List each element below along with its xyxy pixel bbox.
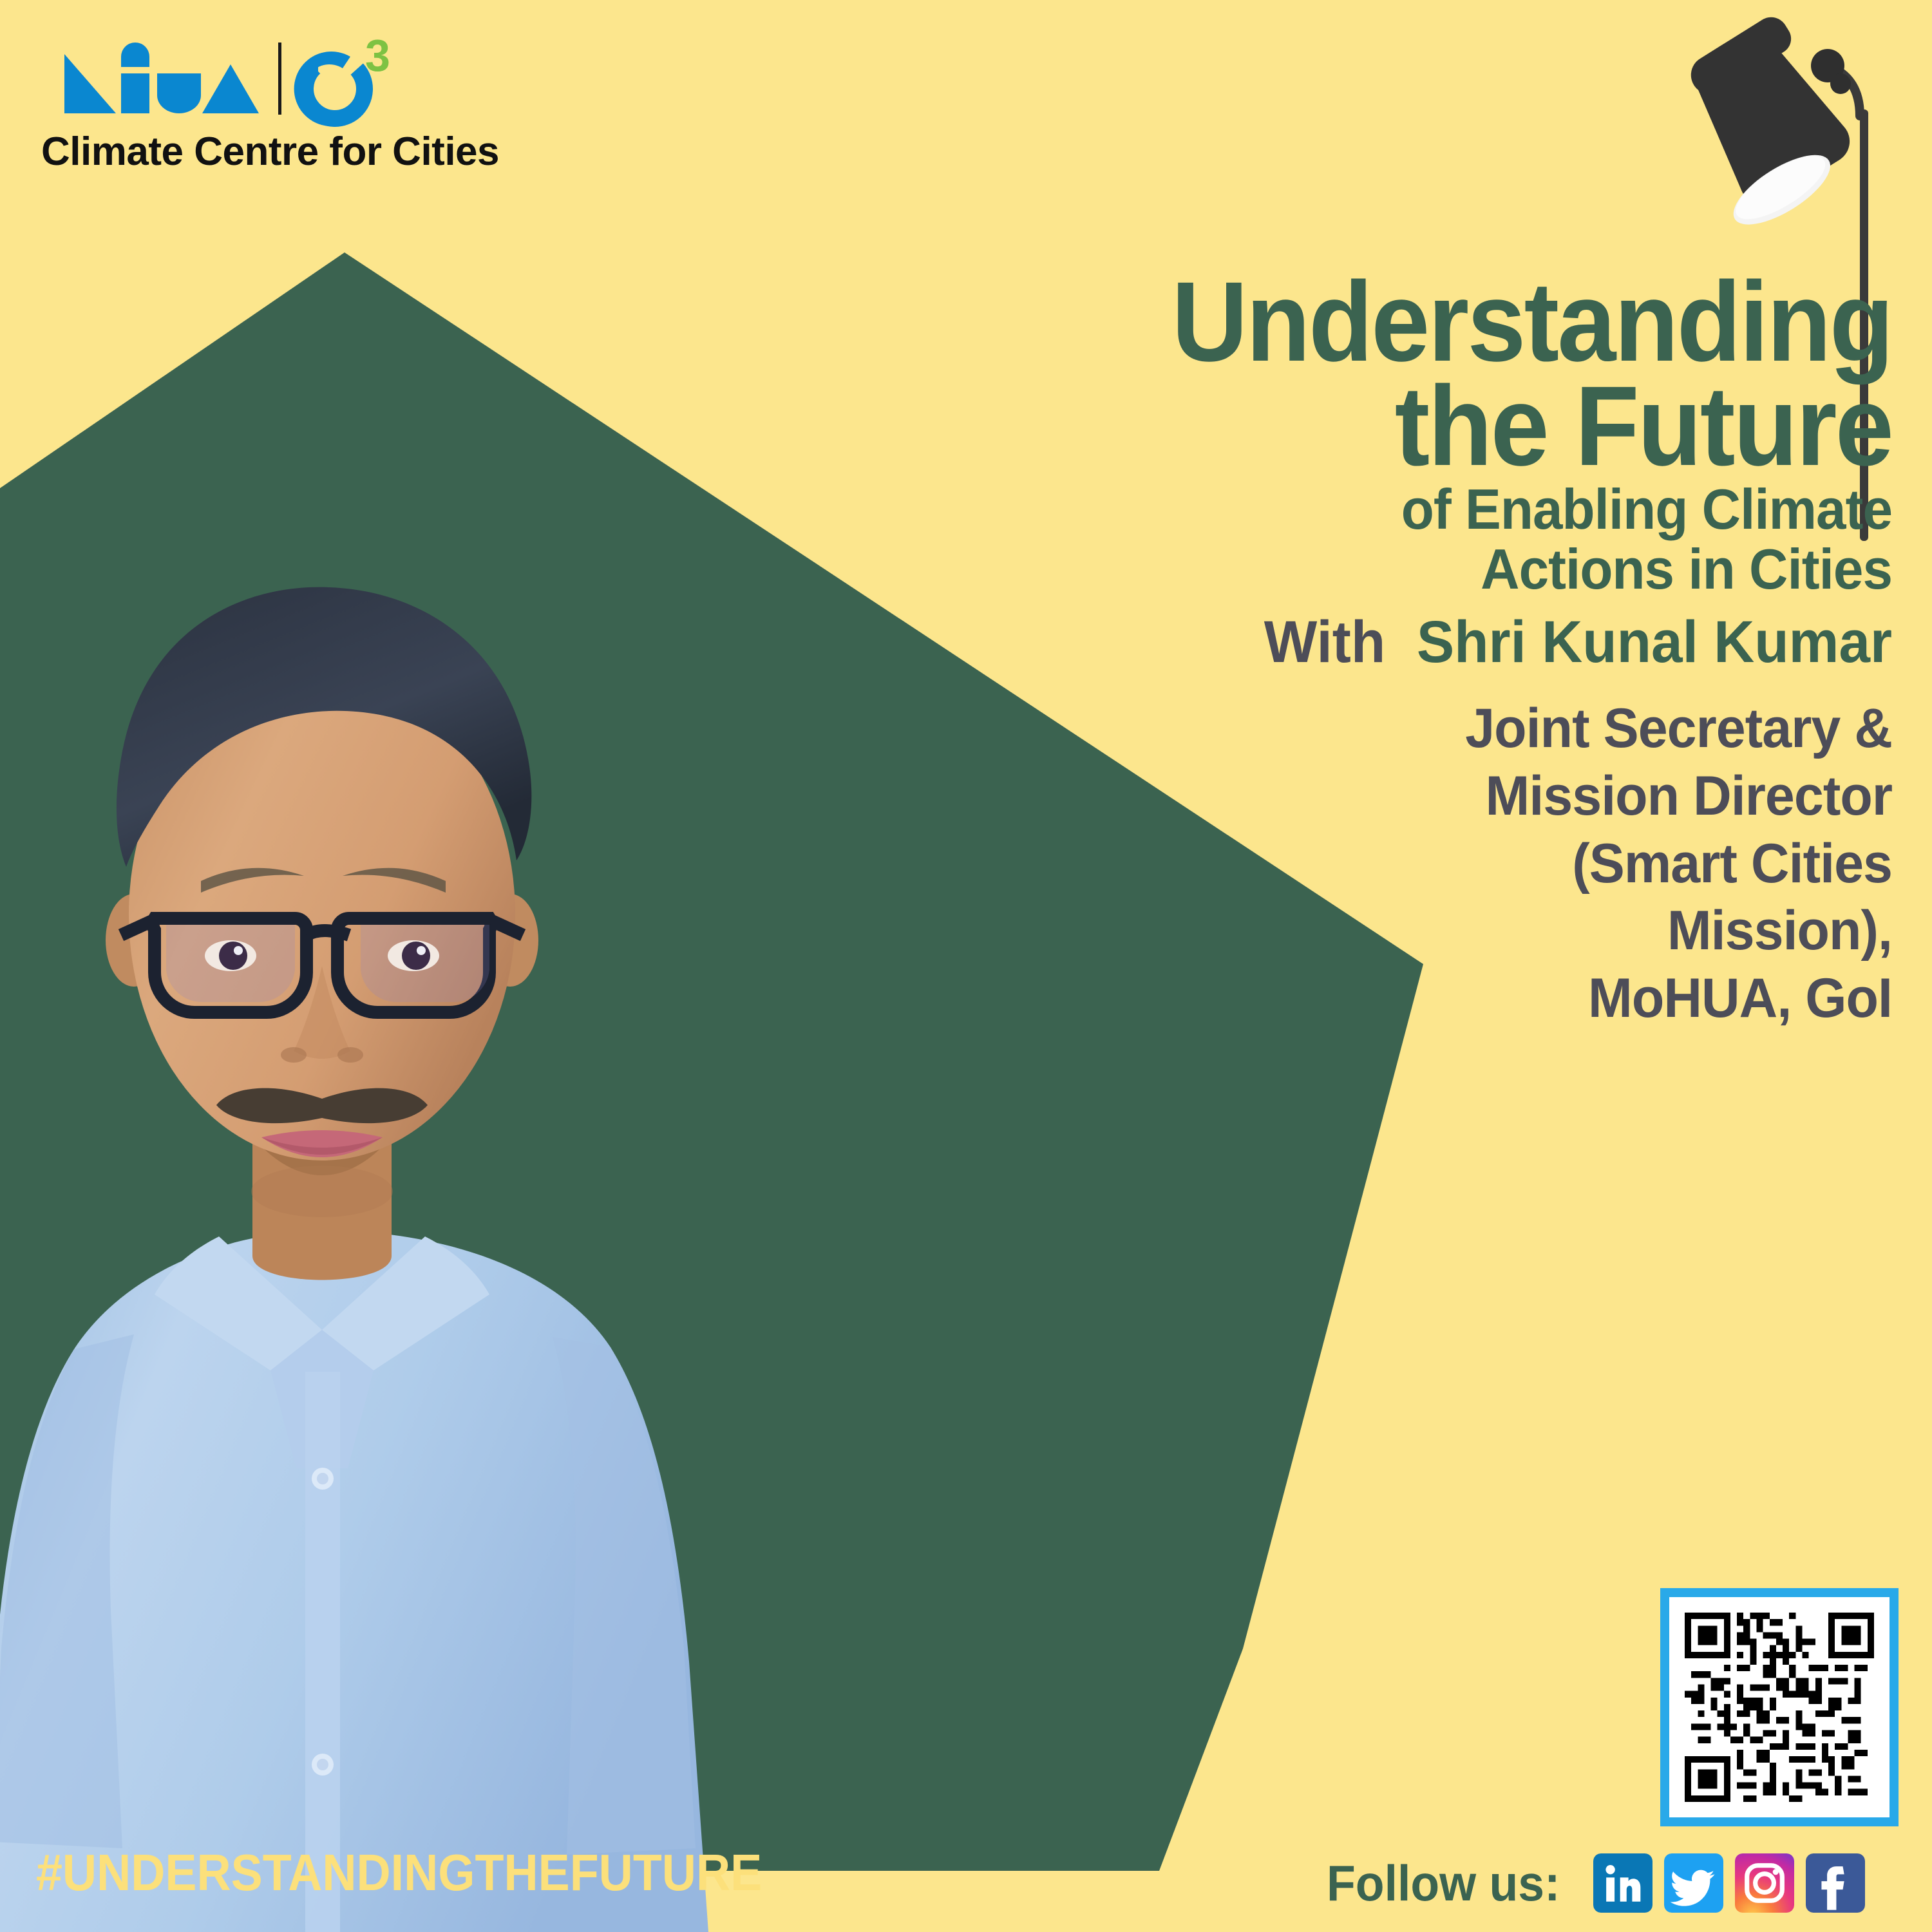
designation-line-2: Mission Director bbox=[891, 762, 1892, 830]
designation-line-1: Joint Secretary & bbox=[891, 695, 1892, 762]
logo-mark-icon: 3 bbox=[40, 31, 401, 128]
hashtag-text: #UNDERSTANDINGTHEFUTURE bbox=[36, 1843, 762, 1902]
linkedin-icon[interactable] bbox=[1593, 1853, 1653, 1913]
headline-block: Understanding the Future of Enabling Cli… bbox=[849, 270, 1892, 1032]
facebook-icon[interactable] bbox=[1806, 1853, 1865, 1913]
title-line-1: Understanding bbox=[922, 270, 1892, 375]
title-line-2: the Future bbox=[922, 375, 1892, 479]
twitter-icon[interactable] bbox=[1664, 1853, 1723, 1913]
speaker-portrait bbox=[0, 554, 811, 1932]
logo-caption: Climate Centre for Cities bbox=[41, 129, 402, 175]
subtitle-line-2: Actions in Cities bbox=[901, 539, 1892, 599]
speaker-line: With Shri Kunal Kumar bbox=[901, 607, 1892, 677]
designation-line-5: MoHUA, GoI bbox=[891, 965, 1892, 1032]
designation-line-4: Mission), bbox=[891, 897, 1892, 965]
designation-block: Joint Secretary & Mission Director (Smar… bbox=[891, 695, 1892, 1033]
designation-line-3: (Smart Cities bbox=[891, 830, 1892, 898]
speaker-name: Shri Kunal Kumar bbox=[1417, 609, 1892, 675]
qr-code-quiet-zone bbox=[1669, 1597, 1889, 1817]
poster-canvas: 3 Climate Centre for Cities Understandin… bbox=[0, 0, 1932, 1932]
svg-text:3: 3 bbox=[365, 31, 390, 80]
instagram-icon[interactable] bbox=[1735, 1853, 1794, 1913]
niua-c3-logo: 3 Climate Centre for Cities bbox=[40, 31, 401, 192]
follow-us-bar: Follow us: bbox=[1327, 1853, 1865, 1913]
follow-us-label: Follow us: bbox=[1327, 1854, 1560, 1913]
with-word: With bbox=[1264, 609, 1401, 675]
subtitle-line-1: of Enabling Climate bbox=[901, 479, 1892, 539]
qr-code-matrix-icon bbox=[1685, 1613, 1874, 1802]
qr-code[interactable] bbox=[1660, 1588, 1899, 1826]
